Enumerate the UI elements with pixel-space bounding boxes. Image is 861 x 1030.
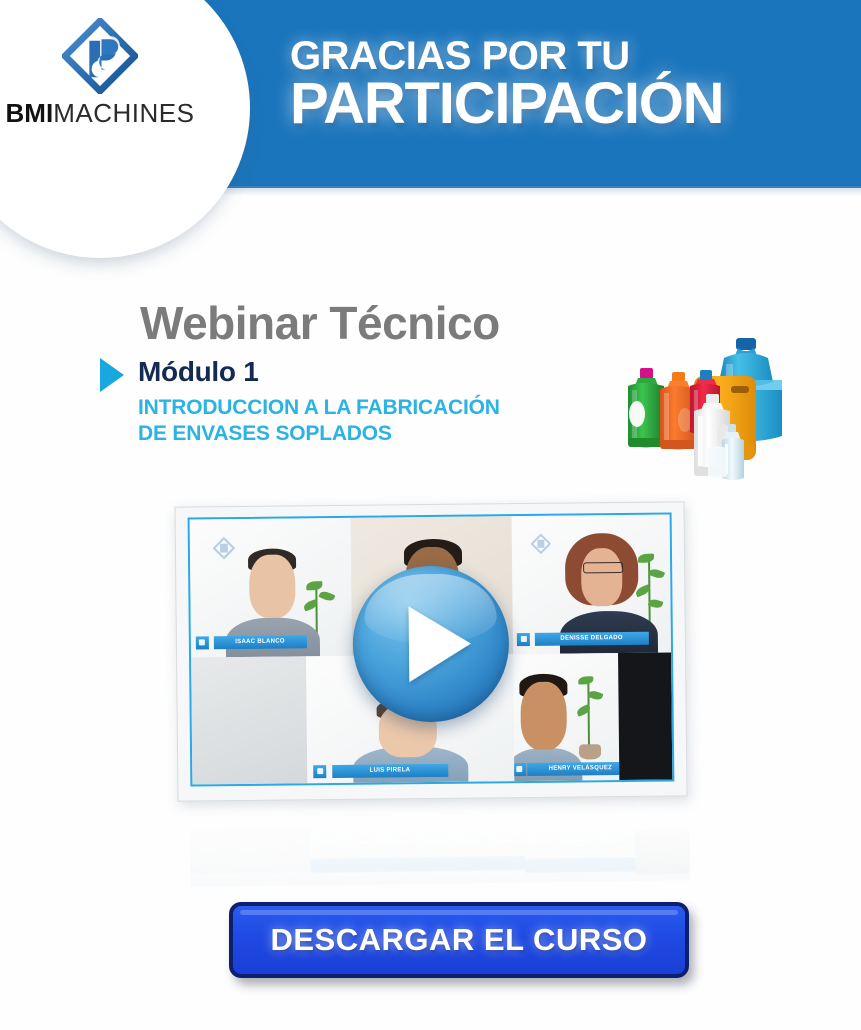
cta-section: DESCARGAR EL CURSO <box>229 902 689 978</box>
brand-name-light: MACHINES <box>53 98 194 128</box>
header-line-1: GRACIAS POR TU <box>290 36 790 76</box>
participant-name-top-left: ISAAC BLANCO <box>213 635 306 649</box>
participant-tile-bottom-far-right-dark[interactable] <box>618 652 672 780</box>
brand-wordmark: BMIMACHINES <box>0 100 200 126</box>
participant-tile-top-left[interactable]: ISAAC BLANCO <box>190 518 352 657</box>
page-title: Webinar Técnico <box>140 300 500 346</box>
mic-chip-icon <box>314 765 327 778</box>
download-course-button-label: DESCARGAR EL CURSO <box>270 922 647 958</box>
brand-logo: BMIMACHINES <box>0 18 200 126</box>
participant-tile-bottom-left-empty[interactable] <box>191 656 308 784</box>
module-subtitle-line-2: DE ENVASES SOPLADOS <box>138 421 608 447</box>
download-course-button[interactable]: DESCARGAR EL CURSO <box>229 902 689 978</box>
product-image-containers <box>612 328 802 498</box>
participant-name-bottom-center-right: HENRY VELÁSQUEZ <box>527 762 619 776</box>
bmi-diamond-logo-icon <box>62 18 138 94</box>
mic-chip-icon <box>517 632 530 645</box>
brand-name-bold: BMI <box>6 98 54 128</box>
module-label: Módulo 1 <box>138 358 258 386</box>
play-triangle-icon <box>409 606 472 683</box>
logo-circle-badge: BMIMACHINES <box>0 0 250 258</box>
bmi-watermark-icon <box>212 537 234 559</box>
module-subtitle: INTRODUCCION A LA FABRICACIÓN DE ENVASES… <box>138 395 608 448</box>
webinar-video-thumbnail[interactable]: ISAAC BLANCO DENISSE DE <box>174 501 687 801</box>
participant-tile-top-right[interactable]: DENISSE DELGADO <box>511 514 671 653</box>
green-detergent-bottle <box>628 368 664 448</box>
video-reflection <box>190 809 691 888</box>
video-participant-grid[interactable]: ISAAC BLANCO DENISSE DE <box>188 512 675 786</box>
header-text-group: GRACIAS POR TU PARTICIPACIÓN <box>290 36 790 133</box>
module-subtitle-line-1: INTRODUCCION A LA FABRICACIÓN <box>138 395 608 421</box>
participant-name-top-right: DENISSE DELGADO <box>535 631 649 645</box>
mic-chip-icon <box>513 763 526 776</box>
participant-tile-bottom-right[interactable]: HENRY VELÁSQUEZ <box>513 653 620 781</box>
eyeglasses-icon <box>583 562 623 574</box>
triangle-right-icon <box>100 358 124 392</box>
blow-molded-bottles-illustration <box>612 328 802 498</box>
header-line-2: PARTICIPACIÓN <box>290 74 790 133</box>
bmi-watermark-icon <box>530 534 550 554</box>
participant-name-bottom-center: LUIS PIRELA <box>332 764 448 778</box>
mic-chip-icon <box>196 636 209 649</box>
